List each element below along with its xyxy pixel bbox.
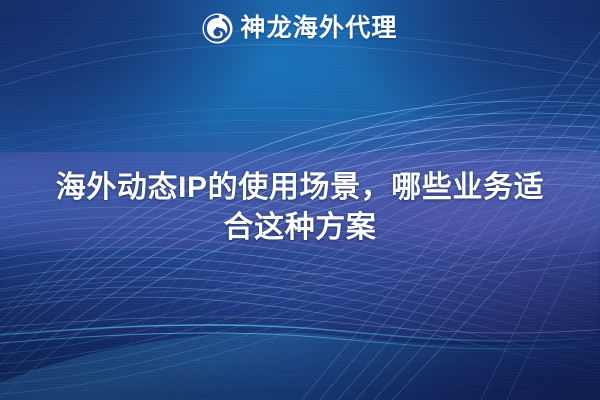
banner: 神龙海外代理 海外动态IP的使用场景，哪些业务适 合这种方案 [0,0,600,400]
brand-logo: 神龙海外代理 [0,11,600,45]
swirl-dragon-logo-icon [202,13,233,44]
brand-name-text: 神龙海外代理 [240,13,397,44]
headline-text: 海外动态IP的使用场景，哪些业务适 合这种方案 [18,168,582,248]
